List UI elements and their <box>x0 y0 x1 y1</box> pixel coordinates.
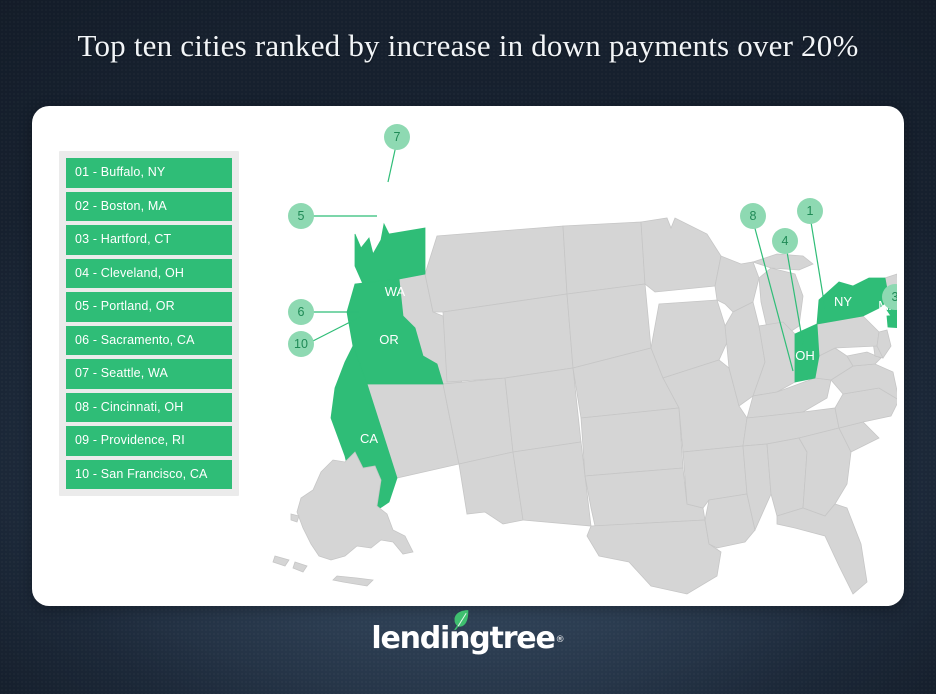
registered-trademark: ® <box>556 635 565 645</box>
legend-item[interactable]: 06 - Sacramento, CA <box>66 326 232 356</box>
leaf-icon <box>451 609 470 631</box>
leader-line-1 <box>810 216 825 308</box>
map-base-states <box>367 218 897 594</box>
state-label-ca: CA <box>360 431 378 446</box>
map-marker-label: 6 <box>298 305 305 319</box>
map-marker-label: 1 <box>807 204 814 218</box>
map-marker-6[interactable]: 6 <box>288 299 314 325</box>
state-ak-island-3 <box>293 562 307 572</box>
state-ak-island-2 <box>273 556 289 566</box>
map-marker-label: 10 <box>294 337 308 351</box>
legend-item[interactable]: 10 - San Francisco, CA <box>66 460 232 490</box>
content-card: 01 - Buffalo, NY 02 - Boston, MA 03 - Ha… <box>32 106 904 606</box>
legend-item[interactable]: 05 - Portland, OR <box>66 292 232 322</box>
state-wa <box>355 224 425 284</box>
map-marker-label: 3 <box>892 290 897 304</box>
legend-item[interactable]: 09 - Providence, RI <box>66 426 232 456</box>
legend-item[interactable]: 03 - Hartford, CT <box>66 225 232 255</box>
legend-item[interactable]: 04 - Cleveland, OH <box>66 259 232 289</box>
legend-item[interactable]: 02 - Boston, MA <box>66 192 232 222</box>
map-marker-5[interactable]: 5 <box>288 203 314 229</box>
state-label-ny: NY <box>834 294 852 309</box>
brand-logo[interactable]: lendingtree® <box>0 624 936 672</box>
map-marker-7[interactable]: 7 <box>384 124 410 150</box>
map-marker-8[interactable]: 8 <box>740 203 766 229</box>
map-marker-10[interactable]: 10 <box>288 331 314 357</box>
legend-item[interactable]: 07 - Seattle, WA <box>66 359 232 389</box>
map-marker-label: 7 <box>394 130 401 144</box>
us-map: WA OR CA OH NY MA <box>247 116 897 596</box>
map-marker-label: 5 <box>298 209 305 223</box>
map-marker-label: 4 <box>782 234 789 248</box>
ranking-legend: 01 - Buffalo, NY 02 - Boston, MA 03 - Ha… <box>59 151 239 496</box>
state-label-wa: WA <box>385 284 406 299</box>
us-map-container: WA OR CA OH NY MA <box>247 116 897 596</box>
map-marker-4[interactable]: 4 <box>772 228 798 254</box>
legend-item[interactable]: 08 - Cincinnati, OH <box>66 393 232 423</box>
state-label-oh: OH <box>795 348 815 363</box>
page-title: Top ten cities ranked by increase in dow… <box>0 28 936 64</box>
map-marker-1[interactable]: 1 <box>797 198 823 224</box>
state-ak-tail <box>333 576 373 586</box>
map-marker-label: 8 <box>750 209 757 223</box>
state-label-or: OR <box>379 332 399 347</box>
legend-item[interactable]: 01 - Buffalo, NY <box>66 158 232 188</box>
